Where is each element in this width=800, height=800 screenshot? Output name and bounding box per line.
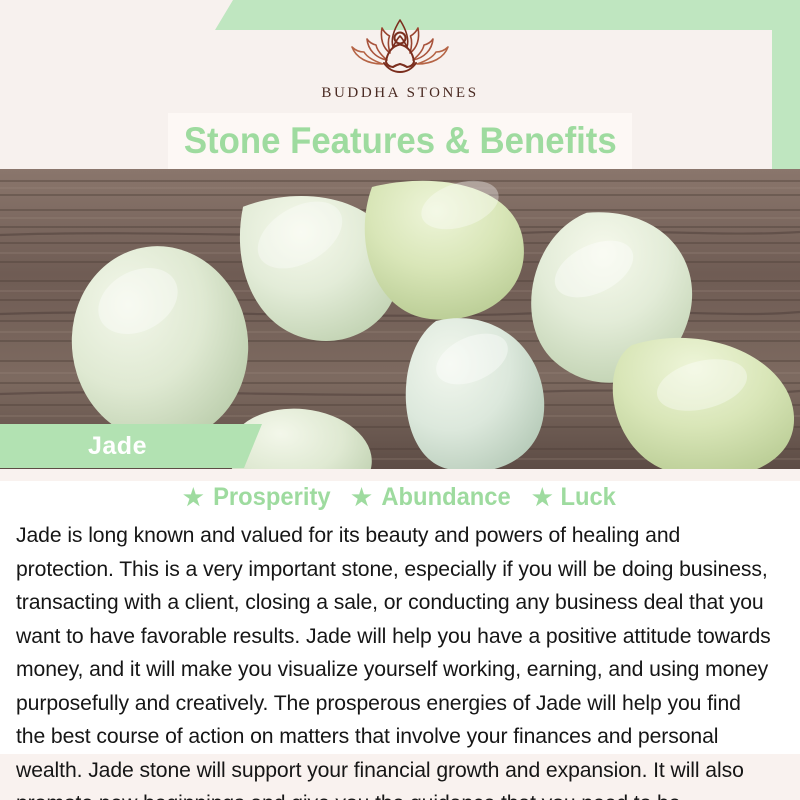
star-icon: ★ [532,486,553,509]
star-icon: ★ [183,486,204,509]
stone-name-band: Jade [0,424,262,468]
brand-logo: BUDDHA STONES [0,0,800,118]
benefit-label: Luck [560,483,615,512]
content-area: ★ Prosperity ★ Abundance ★ Luck Jade is … [0,469,800,800]
lotus-meditation-icon [341,17,459,79]
benefit-label: Abundance [381,483,510,512]
stone-name-label: Jade [88,432,147,461]
benefit-label: Prosperity [213,483,330,512]
title-band: Stone Features & Benefits [168,113,632,169]
benefit-item: ★ Abundance [351,483,514,512]
benefit-item: ★ Luck [532,483,617,512]
page-title: Stone Features & Benefits [184,120,617,162]
stone-description: Jade is long known and valued for its be… [16,519,774,800]
product-info-poster: BUDDHA STONES Stone Features & Benefits [0,0,800,800]
star-icon: ★ [351,486,372,509]
benefit-item: ★ Prosperity [183,483,333,512]
benefits-row: ★ Prosperity ★ Abundance ★ Luck [0,477,800,517]
brand-name: BUDDHA STONES [321,85,478,102]
